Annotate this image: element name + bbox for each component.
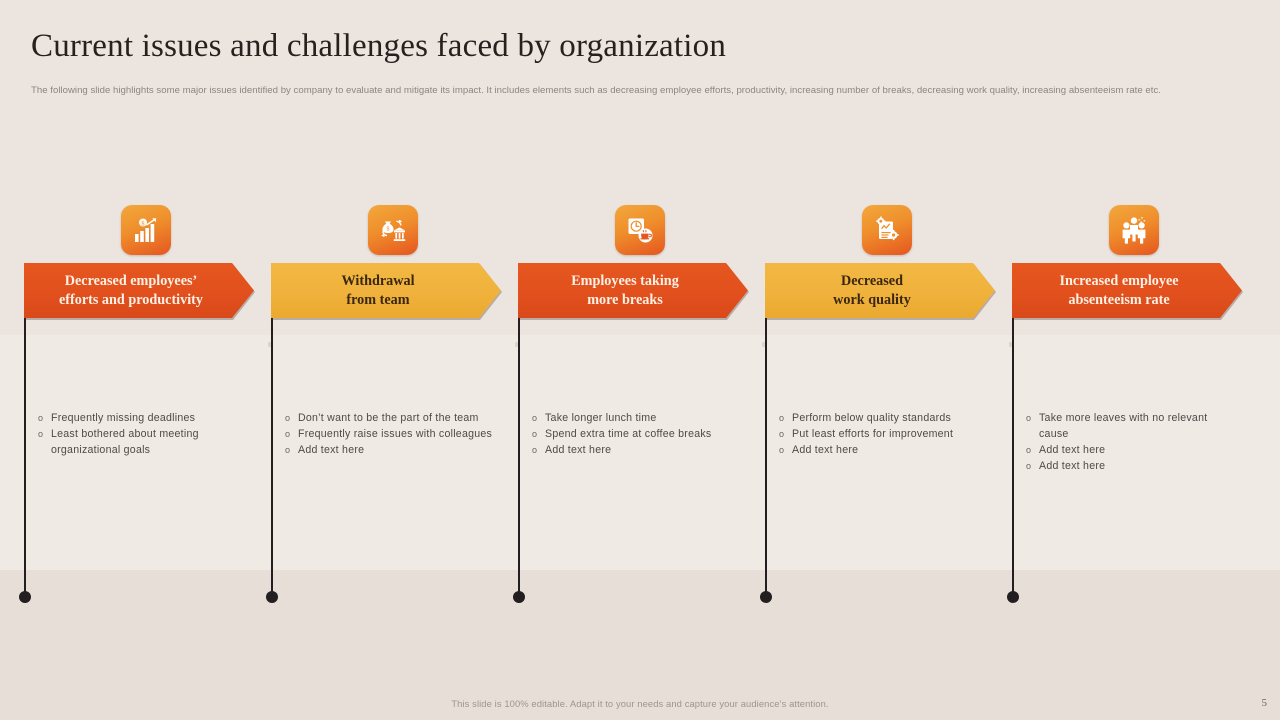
issue-column: Decreased employees’efforts and producti… bbox=[24, 0, 271, 720]
banner-text-holder: Employees takingmore breaks bbox=[571, 272, 679, 310]
list-item: oSpend extra time at coffee breaks bbox=[528, 426, 744, 442]
issue-banner[interactable]: Increased employeeabsenteeism rate bbox=[1012, 263, 1242, 318]
bullet-text: Frequently missing deadlines bbox=[51, 410, 250, 426]
connector-end-dot bbox=[266, 591, 278, 603]
bullet-text: Take longer lunch time bbox=[545, 410, 744, 426]
issue-icon-tile[interactable] bbox=[1109, 205, 1159, 255]
list-item: oPerform below quality standards bbox=[775, 410, 991, 426]
issue-icon-tile[interactable]: $ bbox=[368, 205, 418, 255]
bullet-marker-icon: o bbox=[528, 410, 545, 426]
issue-banner-label: Increased employee bbox=[1059, 273, 1178, 289]
connector-end-dot bbox=[1007, 591, 1019, 603]
bullet-marker-icon: o bbox=[1022, 458, 1039, 474]
issue-banner-label: Decreased bbox=[841, 273, 903, 289]
column-connector-line bbox=[24, 318, 26, 598]
bullet-marker-icon: o bbox=[34, 426, 51, 442]
bullet-text: Add text here bbox=[298, 442, 497, 458]
connector-end-dot bbox=[513, 591, 525, 603]
list-item: oLeast bothered about meeting organizati… bbox=[34, 426, 250, 458]
list-item: oAdd text here bbox=[528, 442, 744, 458]
issue-icon-tile[interactable]: $ bbox=[121, 205, 171, 255]
issue-bullet-list: oTake longer lunch timeoSpend extra time… bbox=[528, 410, 744, 458]
issue-banner-label-line2: efforts and productivity bbox=[59, 292, 203, 308]
bullet-marker-icon: o bbox=[34, 410, 51, 426]
banner-text-holder: Increased employeeabsenteeism rate bbox=[1059, 272, 1178, 310]
clock-coffee-break-icon bbox=[625, 215, 655, 245]
footer-note: This slide is 100% editable. Adapt it to… bbox=[0, 698, 1280, 709]
column-connector-line bbox=[765, 318, 767, 598]
issue-banner[interactable]: Employees takingmore breaks bbox=[518, 263, 748, 318]
issue-banner[interactable]: Decreased employees’efforts and producti… bbox=[24, 263, 254, 318]
money-bag-bank-icon: $ bbox=[378, 215, 408, 245]
list-item: oAdd text here bbox=[775, 442, 991, 458]
issue-banner-label-line2: work quality bbox=[833, 292, 911, 308]
issue-bullet-list: oPerform below quality standardsoPut lea… bbox=[775, 410, 991, 458]
issue-bullet-list: oTake more leaves with no relevant cause… bbox=[1022, 410, 1238, 474]
issue-banner-label: Employees taking bbox=[571, 273, 679, 289]
banner-text-holder: Decreasedwork quality bbox=[833, 272, 911, 310]
bullet-marker-icon: o bbox=[528, 442, 545, 458]
list-item: oFrequently missing deadlines bbox=[34, 410, 250, 426]
bullet-marker-icon: o bbox=[281, 426, 298, 442]
bullet-marker-icon: o bbox=[528, 426, 545, 442]
issue-banner-label: Decreased employees’ bbox=[65, 273, 198, 289]
list-item: oTake more leaves with no relevant cause bbox=[1022, 410, 1238, 442]
bullet-text: Add text here bbox=[1039, 442, 1238, 458]
list-item: oAdd text here bbox=[1022, 442, 1238, 458]
bullet-marker-icon: o bbox=[281, 442, 298, 458]
bullet-marker-icon: o bbox=[775, 442, 792, 458]
bullet-marker-icon: o bbox=[775, 410, 792, 426]
list-item: oFrequently raise issues with colleagues bbox=[281, 426, 497, 442]
issue-columns: Decreased employees’efforts and producti… bbox=[0, 0, 1280, 720]
bullet-text: Add text here bbox=[1039, 458, 1238, 474]
issue-banner[interactable]: Withdrawalfrom team bbox=[271, 263, 501, 318]
bullet-marker-icon: o bbox=[1022, 410, 1039, 426]
list-item: oPut least efforts for improvement bbox=[775, 426, 991, 442]
issue-banner-label-line2: from team bbox=[346, 292, 409, 308]
issue-banner-label-line2: more breaks bbox=[587, 292, 663, 308]
bar-chart-growth-icon: $ bbox=[131, 215, 161, 245]
bullet-text: Take more leaves with no relevant cause bbox=[1039, 410, 1238, 442]
column-connector-line bbox=[271, 318, 273, 598]
svg-text:$: $ bbox=[141, 220, 144, 227]
list-item: oAdd text here bbox=[1022, 458, 1238, 474]
page-number: 5 bbox=[1262, 697, 1268, 709]
list-item: oTake longer lunch time bbox=[528, 410, 744, 426]
connector-end-dot bbox=[19, 591, 31, 603]
issue-column: Increased employeeabsenteeism rate o bbox=[1012, 0, 1259, 720]
banner-text-holder: Withdrawalfrom team bbox=[341, 272, 414, 310]
banner-text-holder: Decreased employees’efforts and producti… bbox=[59, 272, 203, 310]
issue-column: Withdrawalfrom team $ oDon’t want to be … bbox=[271, 0, 518, 720]
issue-bullet-list: oDon’t want to be the part of the teamoF… bbox=[281, 410, 497, 458]
people-group-icon bbox=[1119, 215, 1149, 245]
bullet-text: Spend extra time at coffee breaks bbox=[545, 426, 744, 442]
list-item: oAdd text here bbox=[281, 442, 497, 458]
issue-column: Decreasedwork quality bbox=[765, 0, 1012, 720]
issue-icon-tile[interactable] bbox=[862, 205, 912, 255]
issue-banner-label-line2: absenteeism rate bbox=[1068, 292, 1169, 308]
bullet-marker-icon: o bbox=[775, 426, 792, 442]
bullet-text: Frequently raise issues with colleagues bbox=[298, 426, 497, 442]
document-gear-settings-icon bbox=[872, 215, 902, 245]
connector-end-dot bbox=[760, 591, 772, 603]
issue-bullet-list: oFrequently missing deadlinesoLeast both… bbox=[34, 410, 250, 458]
list-item: oDon’t want to be the part of the team bbox=[281, 410, 497, 426]
bullet-text: Perform below quality standards bbox=[792, 410, 991, 426]
column-connector-line bbox=[1012, 318, 1014, 598]
issue-column: Employees takingmore breaks oTake longer… bbox=[518, 0, 765, 720]
slide-canvas: Current issues and challenges faced by o… bbox=[0, 0, 1280, 720]
bullet-text: Put least efforts for improvement bbox=[792, 426, 991, 442]
column-connector-line bbox=[518, 318, 520, 598]
issue-icon-tile[interactable] bbox=[615, 205, 665, 255]
issue-banner-label: Withdrawal bbox=[341, 273, 414, 289]
bullet-text: Least bothered about meeting organizatio… bbox=[51, 426, 250, 458]
svg-text:$: $ bbox=[387, 226, 390, 233]
bullet-marker-icon: o bbox=[1022, 442, 1039, 458]
bullet-text: Add text here bbox=[792, 442, 991, 458]
bullet-text: Add text here bbox=[545, 442, 744, 458]
issue-banner[interactable]: Decreasedwork quality bbox=[765, 263, 995, 318]
bullet-marker-icon: o bbox=[281, 410, 298, 426]
bullet-text: Don’t want to be the part of the team bbox=[298, 410, 497, 426]
